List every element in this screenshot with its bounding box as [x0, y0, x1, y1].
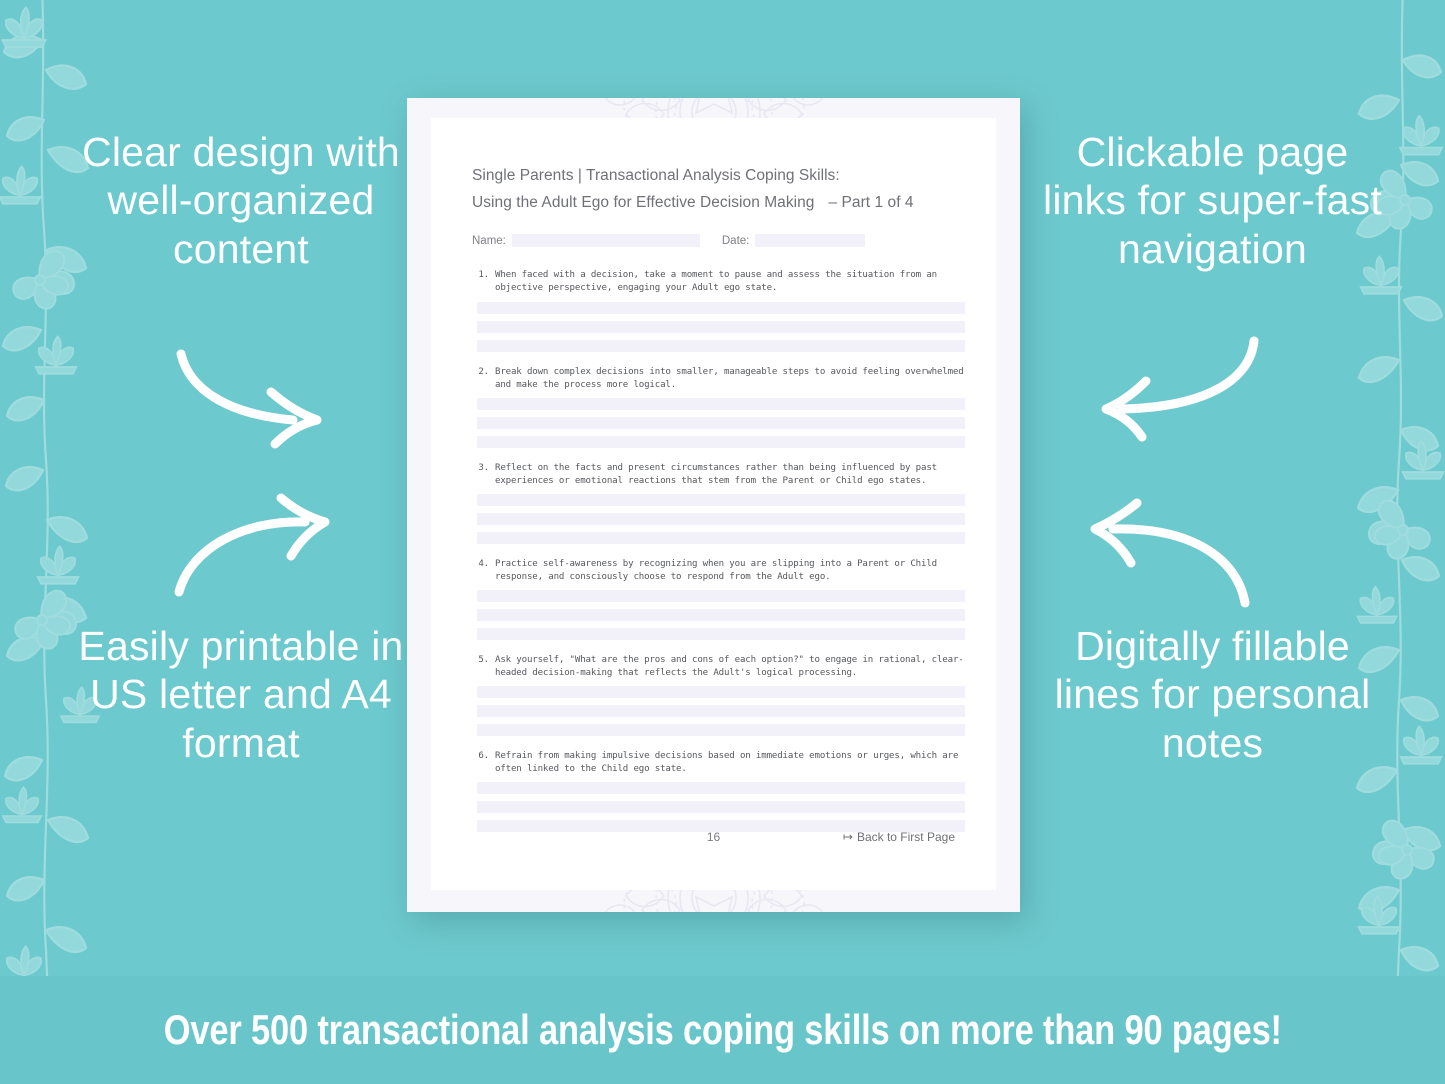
page-number: 16	[707, 830, 720, 844]
document-footer: 16 ↦Back to First Page	[472, 830, 955, 844]
fillable-line[interactable]	[477, 494, 965, 506]
fillable-line[interactable]	[477, 628, 965, 640]
fillable-line[interactable]	[477, 513, 965, 525]
worksheet-items: 1.When faced with a decision, take a mom…	[472, 269, 965, 832]
worksheet-item: 3.Reflect on the facts and present circu…	[472, 462, 965, 544]
worksheet-document[interactable]: Single Parents | Transactional Analysis …	[407, 98, 1020, 912]
worksheet-item-body: Refrain from making impulsive decisions …	[495, 750, 965, 776]
bottom-banner: Over 500 transactional analysis coping s…	[0, 976, 1445, 1084]
fillable-lines-group	[472, 302, 965, 352]
fillable-line[interactable]	[477, 398, 965, 410]
fillable-lines-group	[472, 782, 965, 832]
fillable-line[interactable]	[477, 340, 965, 352]
worksheet-item-number: 6.	[472, 750, 495, 776]
worksheet-subtitle: Using the Adult Ego for Effective Decisi…	[472, 194, 814, 211]
date-input[interactable]	[755, 234, 865, 247]
fillable-lines-group	[472, 686, 965, 736]
fillable-line[interactable]	[477, 609, 965, 621]
back-to-first-page-label: Back to First Page	[857, 830, 955, 844]
fillable-line[interactable]	[477, 782, 965, 794]
curved-arrow-right-icon	[175, 352, 335, 442]
worksheet-item-body: When faced with a decision, take a momen…	[495, 269, 965, 295]
worksheet-item-number: 1.	[472, 269, 495, 295]
name-label: Name:	[472, 236, 506, 248]
worksheet-item-number: 3.	[472, 462, 495, 488]
promo-text-fillable-lines: Digitally fillable lines for personal no…	[1040, 622, 1385, 767]
worksheet-item-text-row: 5.Ask yourself, "What are the pros and c…	[472, 654, 965, 680]
worksheet-item-text-row: 6.Refrain from making impulsive decision…	[472, 750, 965, 776]
fillable-line[interactable]	[477, 801, 965, 813]
worksheet-item-number: 2.	[472, 366, 495, 392]
worksheet-item-body: Reflect on the facts and present circums…	[495, 462, 965, 488]
arrow-right-small-icon: ↦	[843, 830, 853, 844]
name-input[interactable]	[512, 234, 700, 247]
worksheet-item: 1.When faced with a decision, take a mom…	[472, 269, 965, 351]
worksheet-item-text-row: 1.When faced with a decision, take a mom…	[472, 269, 965, 295]
back-to-first-page-link[interactable]: ↦Back to First Page	[843, 830, 955, 844]
date-label: Date:	[722, 236, 750, 248]
worksheet-part-label: – Part 1 of 4	[828, 194, 913, 211]
worksheet-item-number: 5.	[472, 654, 495, 680]
fillable-line[interactable]	[477, 321, 965, 333]
worksheet-item-text-row: 3.Reflect on the facts and present circu…	[472, 462, 965, 488]
worksheet-item-number: 4.	[472, 558, 495, 584]
fillable-line[interactable]	[477, 532, 965, 544]
worksheet-item-body: Break down complex decisions into smalle…	[495, 366, 965, 392]
worksheet-item-text-row: 2.Break down complex decisions into smal…	[472, 366, 965, 392]
curved-arrow-left-icon	[1085, 505, 1265, 610]
fillable-lines-group	[472, 590, 965, 640]
worksheet-item: 6.Refrain from making impulsive decision…	[472, 750, 965, 832]
worksheet-item: 2.Break down complex decisions into smal…	[472, 366, 965, 448]
fillable-line[interactable]	[477, 302, 965, 314]
promo-text-clear-design: Clear design with well-organized content	[76, 128, 406, 273]
promo-text-printable: Easily printable in US letter and A4 for…	[76, 622, 406, 767]
worksheet-item-body: Practice self-awareness by recognizing w…	[495, 558, 965, 584]
fillable-line[interactable]	[477, 724, 965, 736]
fillable-line[interactable]	[477, 705, 965, 717]
fillable-line[interactable]	[477, 590, 965, 602]
fillable-line[interactable]	[477, 686, 965, 698]
name-date-row: Name: Date:	[472, 234, 965, 247]
fillable-line[interactable]	[477, 436, 965, 448]
document-page: Single Parents | Transactional Analysis …	[431, 118, 996, 890]
worksheet-item-text-row: 4.Practice self-awareness by recognizing…	[472, 558, 965, 584]
worksheet-title-line-1: Single Parents | Transactional Analysis …	[472, 163, 965, 190]
fillable-lines-group	[472, 398, 965, 448]
promo-text-clickable-links: Clickable page links for super-fast navi…	[1040, 128, 1385, 273]
worksheet-title-line-2: Using the Adult Ego for Effective Decisi…	[472, 190, 965, 217]
worksheet-item: 4.Practice self-awareness by recognizing…	[472, 558, 965, 640]
worksheet-item: 5.Ask yourself, "What are the pros and c…	[472, 654, 965, 736]
fillable-lines-group	[472, 494, 965, 544]
document-frame: Single Parents | Transactional Analysis …	[407, 98, 1020, 912]
fillable-line[interactable]	[477, 417, 965, 429]
curved-arrow-right-icon	[165, 500, 340, 600]
curved-arrow-left-icon	[1098, 335, 1278, 440]
worksheet-item-body: Ask yourself, "What are the pros and con…	[495, 654, 965, 680]
banner-tagline: Over 500 transactional analysis coping s…	[163, 1006, 1281, 1054]
